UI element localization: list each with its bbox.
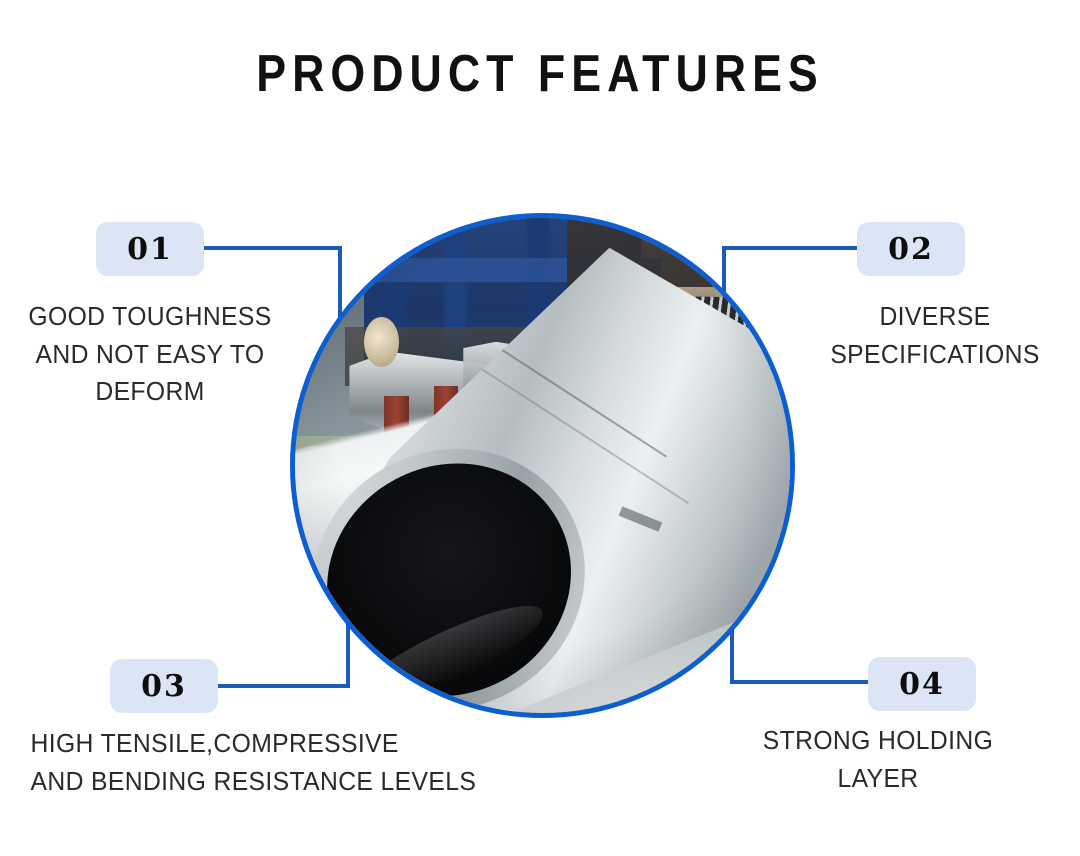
- pipe-surface-marking: [619, 506, 662, 531]
- product-photo: [295, 218, 790, 713]
- feature-number-01: 01: [127, 232, 173, 267]
- feature-caption-03: HIGH TENSILE,COMPRESSIVE AND BENDING RES…: [31, 725, 506, 800]
- feature-badge-02[interactable]: 02: [857, 222, 965, 276]
- feature-number-02: 02: [888, 232, 934, 267]
- feature-number-03: 03: [141, 669, 187, 704]
- product-photo-circle: [290, 213, 795, 718]
- feature-caption-02: DIVERSE SPECIFICATIONS: [797, 298, 1073, 373]
- feature-caption-01: GOOD TOUGHNESS AND NOT EASY TO DEFORM: [8, 298, 293, 411]
- feature-number-04: 04: [899, 667, 945, 702]
- product-features-infographic: PRODUCT FEATURES: [0, 0, 1080, 856]
- feature-badge-04[interactable]: 04: [868, 657, 976, 711]
- feature-caption-04: STRONG HOLDING LAYER: [726, 722, 1030, 797]
- feature-badge-03[interactable]: 03: [110, 659, 218, 713]
- feature-badge-01[interactable]: 01: [96, 222, 204, 276]
- page-title: PRODUCT FEATURES: [76, 44, 1005, 104]
